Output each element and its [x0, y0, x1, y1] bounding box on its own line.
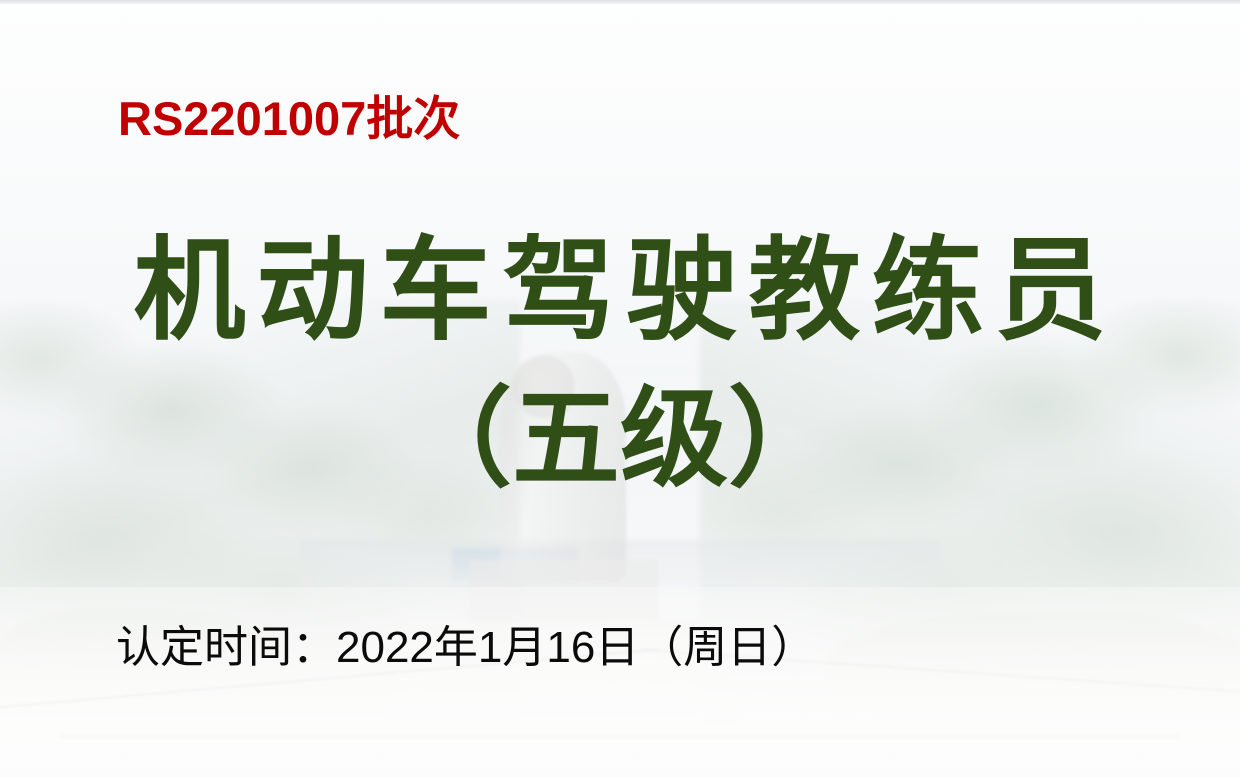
assessment-date-label: 认定时间：2022年1月16日（周日）: [116, 622, 815, 675]
page-subtitle-level: （五级）: [0, 381, 1240, 498]
slide-content: RS2201007批次 机动车驾驶教练员 （五级） 认定时间：2022年1月16…: [0, 0, 1240, 777]
batch-code-label: RS2201007批次: [118, 92, 460, 146]
presentation-slide: RS2201007批次 机动车驾驶教练员 （五级） 认定时间：2022年1月16…: [0, 0, 1240, 777]
page-title: 机动车驾驶教练员: [0, 232, 1240, 351]
